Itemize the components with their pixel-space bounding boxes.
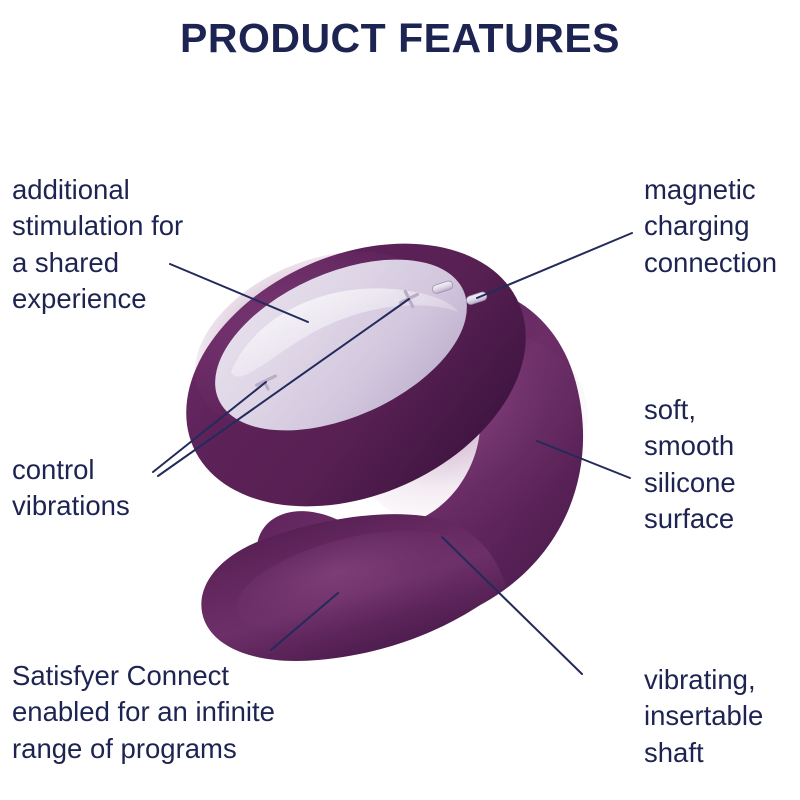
callout-magnetic-charging: magnetic charging connection xyxy=(644,172,800,281)
product-features-infographic: PRODUCT FEATURES xyxy=(0,0,800,800)
callout-soft-smooth-silicone: soft, smooth silicone surface xyxy=(644,392,800,537)
callout-vibrating-shaft: vibrating, insertable shaft xyxy=(644,662,800,771)
callout-control-vibrations: control vibrations xyxy=(12,452,272,525)
device-insertable-shaft xyxy=(201,511,506,661)
callout-satisfyer-connect: Satisfyer Connect enabled for an infinit… xyxy=(12,658,372,767)
callout-additional-stimulation: additional stimulation for a shared expe… xyxy=(12,172,312,317)
